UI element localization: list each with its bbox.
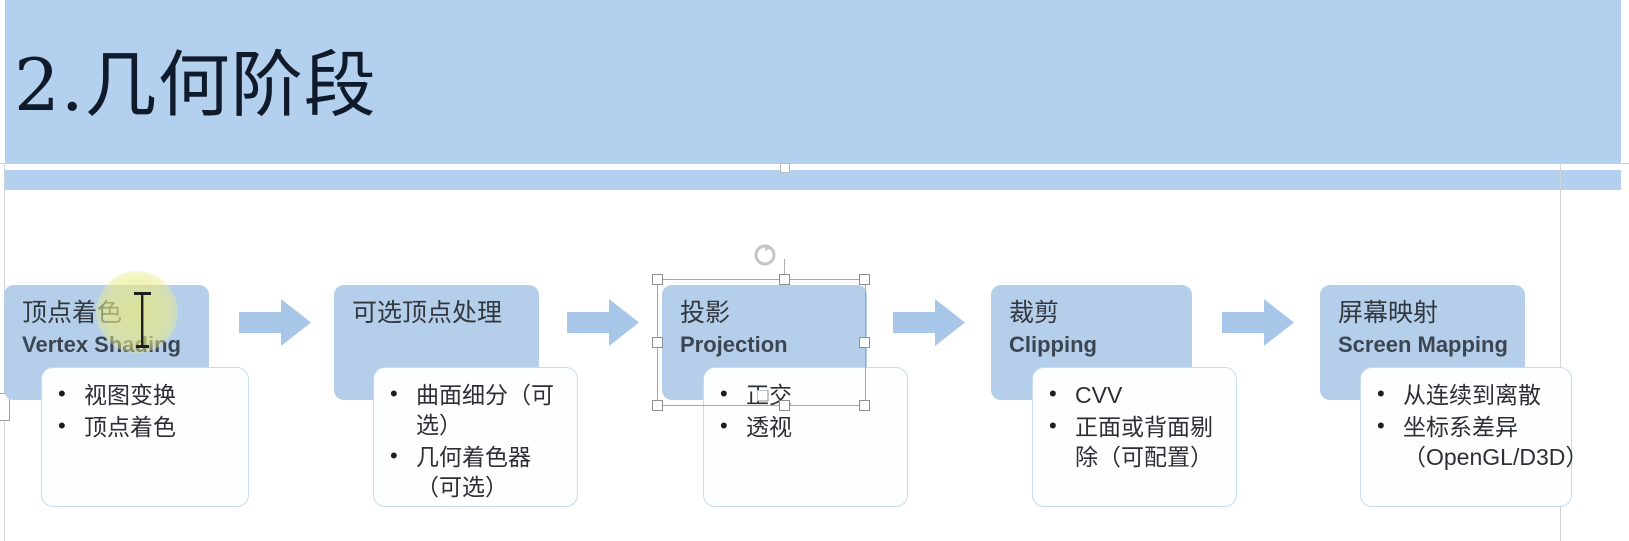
stage-title-en: Screen Mapping — [1338, 332, 1508, 358]
list-item: 正交 — [738, 380, 897, 410]
bullet-list: 视图变换 顶点着色 — [56, 380, 238, 442]
bullet-text: 几何着色器（可选） — [408, 442, 567, 502]
flow-arrow-1-icon — [239, 299, 311, 346]
flow-arrow-3-icon — [893, 299, 965, 346]
detail-card-projection[interactable]: 正交 透视 — [703, 367, 908, 507]
slide-canvas: 2.几何阶段 顶点着色 Vertex Shading 可选顶点处理 投影 Pro… — [0, 0, 1629, 541]
bullet-text: 顶点着色 — [76, 412, 238, 442]
stage-title-cn: 屏幕映射 — [1338, 293, 1438, 329]
selection-handle-bottom-left[interactable] — [652, 400, 663, 411]
stage-title-en: Projection — [680, 332, 788, 358]
list-item: 视图变换 — [76, 380, 238, 410]
bullet-text: 从连续到离散 — [1395, 380, 1561, 410]
bullet-list: 正交 透视 — [718, 380, 897, 442]
list-item: 曲面细分（可选） — [408, 380, 567, 440]
bullet-text: 正交 — [738, 380, 897, 410]
selection-handle-middle-left[interactable] — [652, 337, 663, 348]
detail-card-screen-mapping[interactable]: 从连续到离散 坐标系差异（OpenGL/D3D） — [1360, 367, 1572, 507]
bullet-text: 坐标系差异（OpenGL/D3D） — [1395, 412, 1561, 472]
bullet-list: 从连续到离散 坐标系差异（OpenGL/D3D） — [1375, 380, 1561, 472]
bullet-text: 透视 — [738, 412, 897, 442]
bullet-list: CVV 正面或背面剔除（可配置） — [1047, 380, 1226, 472]
selection-handle-middle-right[interactable] — [859, 337, 870, 348]
selection-handle-bottom-right[interactable] — [859, 400, 870, 411]
list-item: 几何着色器（可选） — [408, 442, 567, 502]
list-item: 坐标系差异（OpenGL/D3D） — [1395, 412, 1561, 472]
selection-handle-top-right[interactable] — [859, 274, 870, 285]
list-item: 顶点着色 — [76, 412, 238, 442]
list-item: 透视 — [738, 412, 897, 442]
bullet-list: 曲面细分（可选） 几何着色器（可选） — [388, 380, 567, 502]
stage-title-cn: 投影 — [680, 293, 730, 329]
detail-card-optional-vertex-processing[interactable]: 曲面细分（可选） 几何着色器（可选） — [373, 367, 578, 507]
title-banner-strip — [5, 170, 1621, 190]
list-item: CVV — [1067, 380, 1226, 410]
flow-arrow-4-icon — [1222, 299, 1294, 346]
selection-handle-top-center[interactable] — [779, 274, 790, 285]
selection-handle-bottom-center[interactable] — [779, 400, 790, 411]
stage-title-en: Vertex Shading — [22, 332, 181, 358]
bullet-text: 曲面细分（可选） — [408, 380, 567, 440]
stage-title-cn: 可选顶点处理 — [352, 293, 502, 329]
bullet-text: CVV — [1067, 380, 1226, 410]
rotate-handle-icon[interactable] — [751, 241, 779, 269]
list-item: 从连续到离散 — [1395, 380, 1561, 410]
selection-handle-top-left[interactable] — [652, 274, 663, 285]
banner-resize-handle[interactable] — [780, 163, 790, 173]
list-item: 正面或背面剔除（可配置） — [1067, 412, 1226, 472]
stage-title-en: Clipping — [1009, 332, 1097, 358]
stage-title-cn: 裁剪 — [1009, 293, 1059, 329]
flow-arrow-2-icon — [567, 299, 639, 346]
banner-divider — [0, 163, 1629, 170]
detail-card-vertex-shading[interactable]: 视图变换 顶点着色 — [41, 367, 249, 507]
bullet-text: 正面或背面剔除（可配置） — [1067, 412, 1226, 472]
detail-card-clipping[interactable]: CVV 正面或背面剔除（可配置） — [1032, 367, 1237, 507]
bullet-text: 视图变换 — [76, 380, 238, 410]
stage-title-cn: 顶点着色 — [22, 293, 122, 329]
page-title: 2.几何阶段 — [14, 42, 377, 128]
